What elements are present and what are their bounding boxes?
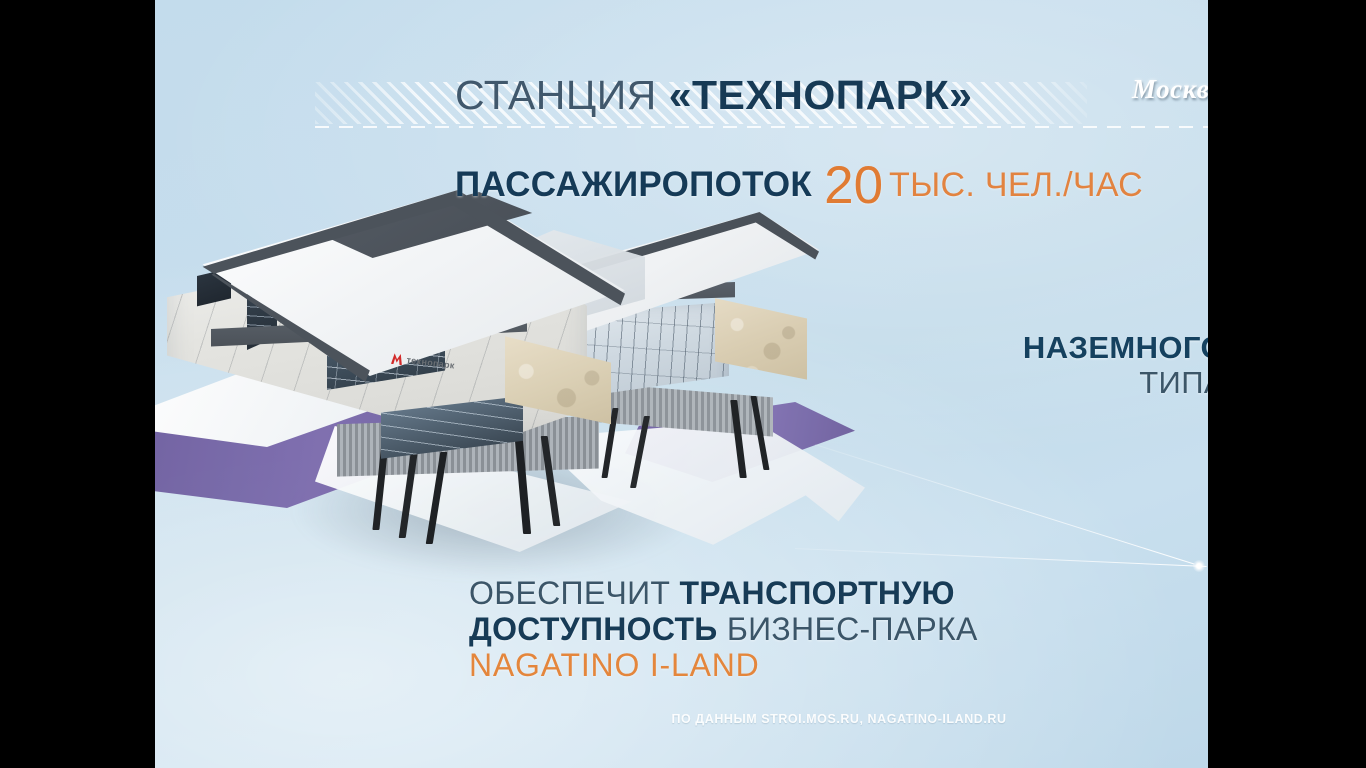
source-credit: ПО ДАННЫМ STROI.MOS.RU, NAGATINO-ILAND.R… <box>315 712 1208 726</box>
channel-logo: Москва 24 <box>1132 74 1208 105</box>
page-title: СТАНЦИЯ «ТЕХНОПАРК» <box>455 72 972 119</box>
right-wing-stone-texture <box>715 294 807 396</box>
video-frame: технопарк СТАНЦИЯ «ТЕХНОПАРК» Москва 24 … <box>155 0 1208 768</box>
station-type-callout: НАЗЕМНОГО ТИПА <box>925 332 1208 401</box>
passenger-flow-stat: ПАССАЖИРОПОТОК20ТЫС. ЧЕЛ./ЧАС <box>455 148 1143 209</box>
metro-m-icon <box>391 353 403 365</box>
station-render-illustration: технопарк <box>155 190 875 570</box>
description-row-2-light: БИЗНЕС-ПАРКА <box>727 611 978 647</box>
callout-line-2: ТИПА <box>925 365 1208 402</box>
description-row-1: ОБЕСПЕЧИТ ТРАНСПОРТНУЮ <box>469 576 978 612</box>
description-row-1-light: ОБЕСПЕЧИТ <box>469 575 679 611</box>
pillarbox-left <box>0 0 155 768</box>
description-row-1-bold: ТРАНСПОРТНУЮ <box>679 575 954 611</box>
stat-label: ПАССАЖИРОПОТОК <box>455 165 812 204</box>
station-sign-label: технопарк <box>406 355 455 371</box>
description-row-2: ДОСТУПНОСТЬ БИЗНЕС-ПАРКА <box>469 612 978 648</box>
pillarbox-right <box>1208 0 1366 768</box>
callout-line-1: НАЗЕМНОГО <box>925 332 1208 365</box>
header-dashed-divider <box>315 126 1208 128</box>
screenshot-root: технопарк СТАНЦИЯ «ТЕХНОПАРК» Москва 24 … <box>0 0 1366 768</box>
description-row-3: NAGATINO I-LAND <box>469 648 978 684</box>
stat-value: 20 <box>824 156 883 215</box>
page-title-bold: «ТЕХНОПАРК» <box>669 72 973 118</box>
business-park-name: NAGATINO I-LAND <box>469 647 760 683</box>
description-row-2-bold: ДОСТУПНОСТЬ <box>469 611 727 647</box>
stat-unit: ТЫС. ЧЕЛ./ЧАС <box>889 166 1143 204</box>
pointer-dot <box>1193 560 1205 572</box>
description-block: ОБЕСПЕЧИТ ТРАНСПОРТНУЮ ДОСТУПНОСТЬ БИЗНЕ… <box>469 576 978 683</box>
page-title-light: СТАНЦИЯ <box>455 72 669 118</box>
